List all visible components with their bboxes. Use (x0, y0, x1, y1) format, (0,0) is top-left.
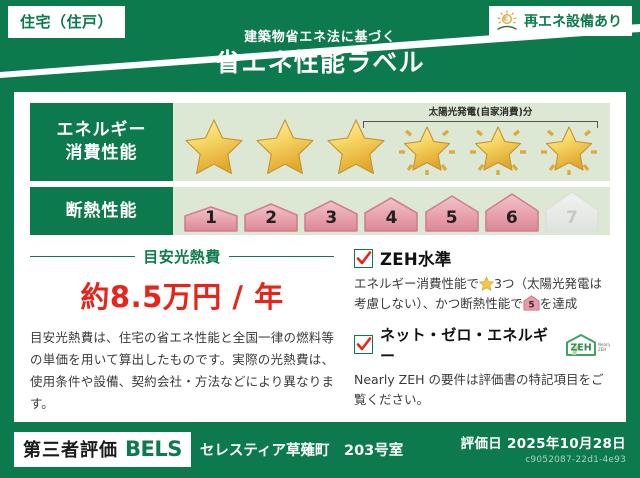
star-filled-solar (465, 115, 531, 177)
zeh-standard-heading: ZEH水準 (354, 246, 610, 270)
title-main: 省エネ性能ラベル (0, 47, 640, 78)
net-zero-heading: ネット・ゼロ・エネルギー ZEH Nearly ZEH (354, 324, 610, 366)
footer-right-group: 評価日 2025年10月28日 c9052087-22d1-4e93 (461, 432, 626, 465)
utility-cost-heading-label: 目安光熱費 (143, 246, 221, 267)
star-filled (252, 115, 318, 177)
net-zero-title: ネット・ゼロ・エネルギー (380, 324, 555, 366)
star-filled (181, 115, 247, 177)
details-section: 目安光熱費 約8.5万円 / 年 目安光熱費は、住宅の省エネ性能と全国一律の燃料… (30, 246, 610, 419)
net-zero-description: Nearly ZEH の要件は評価書の特記項目をご覧ください。 (354, 370, 610, 411)
net-zero-energy-block: ネット・ゼロ・エネルギー ZEH Nearly ZEH Nearly ZEH の… (354, 324, 610, 411)
star-filled-solar (536, 115, 602, 177)
insulation-level-number: 2 (243, 208, 299, 228)
insulation-level-list: 1 2 3 (173, 190, 610, 232)
renewable-equipment-badge: 再エネ設備あり (489, 6, 632, 36)
insulation-level-badge-inline: 5 (523, 295, 540, 311)
zeh-standard-description: エネルギー消費性能で 3つ（太陽光発電は考慮しない）、かつ断熱性能で 5 を達成 (354, 274, 610, 315)
utility-cost-note: 目安光熱費は、住宅の省エネ性能と全国一律の燃料等の単価を用いて算出したものです。… (30, 327, 334, 415)
insulation-performance-label: 断熱性能 (30, 187, 173, 235)
zeh-standard-title: ZEH水準 (380, 246, 452, 270)
net-zero-checkbox (354, 335, 373, 354)
insulation-level-badge: 6 (484, 192, 540, 232)
insulation-level-number: 1 (183, 208, 239, 228)
energy-performance-label: エネルギー 消費性能 (30, 103, 173, 181)
footer-left-group: 第三者評価 BELS セレスティア草薙町 203号室 (14, 432, 403, 467)
insulation-level-number: 4 (363, 208, 419, 228)
zeh-standard-checkbox (354, 249, 373, 268)
cost-rule-left (30, 256, 135, 258)
zeh-standard-block: ZEH水準 エネルギー消費性能で 3つ（太陽光発電は考慮しない）、かつ断熱性能で… (354, 246, 610, 315)
zeh-desc-part1: エネルギー消費性能で (354, 276, 479, 291)
utility-cost-value: 約8.5万円 / 年 (30, 274, 334, 316)
zeh-column: ZEH水準 エネルギー消費性能で 3つ（太陽光発電は考慮しない）、かつ断熱性能で… (348, 246, 610, 419)
zeh-desc-part3: を達成 (540, 296, 578, 311)
bels-certification-box: 第三者評価 BELS (14, 432, 191, 467)
category-tag: 住宅（住戸） (8, 6, 125, 38)
energy-label-line1: エネルギー (57, 119, 147, 142)
building-name: セレスティア草薙町 203号室 (200, 439, 403, 460)
cost-rule-right (229, 256, 334, 258)
utility-cost-heading: 目安光熱費 (30, 246, 334, 267)
energy-performance-row: エネルギー 消費性能 太陽光発電(自家消費)分 (30, 92, 610, 181)
insulation-level-badge: 3 (303, 199, 359, 232)
sun-renewable-icon (495, 10, 519, 32)
header: 住宅（住戸） 再エネ設備あり 建築物省エネ法に基づく 省エ (0, 0, 640, 96)
svg-text:ZEH: ZEH (570, 342, 591, 353)
zeh-house-logo: ZEH Nearly ZEH (564, 333, 610, 357)
insulation-level-number: 5 (424, 208, 480, 228)
main-panel: エネルギー 消費性能 太陽光発電(自家消費)分 (14, 92, 626, 422)
star-icon (479, 276, 494, 291)
insulation-level-badge: 2 (243, 202, 299, 232)
insulation-level-number: 7 (544, 208, 600, 228)
check-icon (356, 336, 372, 353)
evaluation-date: 評価日 2025年10月28日 (461, 432, 626, 452)
insulation-level-number: 6 (484, 208, 540, 228)
svg-text:5: 5 (528, 301, 534, 311)
star-rating (173, 115, 610, 177)
insulation-level-badge: 5 (424, 194, 480, 232)
insulation-level-number: 3 (303, 208, 359, 228)
star-filled (323, 115, 389, 177)
check-icon (356, 250, 372, 267)
renewable-badge-label: 再エネ設備あり (524, 11, 622, 31)
insulation-level-badge: 4 (363, 196, 419, 232)
energy-label-root: 住宅（住戸） 再エネ設備あり 建築物省エネ法に基づく 省エ (0, 0, 640, 478)
evaluation-id: c9052087-22d1-4e93 (461, 455, 626, 465)
energy-stars-container: 太陽光発電(自家消費)分 (173, 103, 610, 181)
insulation-performance-row: 断熱性能 (30, 187, 610, 235)
insulation-level-badge: 1 (183, 205, 239, 232)
svg-text:ZEH: ZEH (598, 347, 606, 352)
insulation-level-badge-inactive: 7 (544, 190, 600, 232)
utility-cost-column: 目安光熱費 約8.5万円 / 年 目安光熱費は、住宅の省エネ性能と全国一律の燃料… (30, 246, 334, 419)
energy-label-line2: 消費性能 (66, 142, 138, 165)
star-filled-solar (394, 115, 460, 177)
third-party-eval-label: 第三者評価 (23, 436, 118, 462)
bels-logo-text: BELS (125, 437, 182, 461)
insulation-levels-container: 1 2 3 (173, 187, 610, 235)
footer: 第三者評価 BELS セレスティア草薙町 203号室 評価日 2025年10月2… (0, 422, 640, 478)
